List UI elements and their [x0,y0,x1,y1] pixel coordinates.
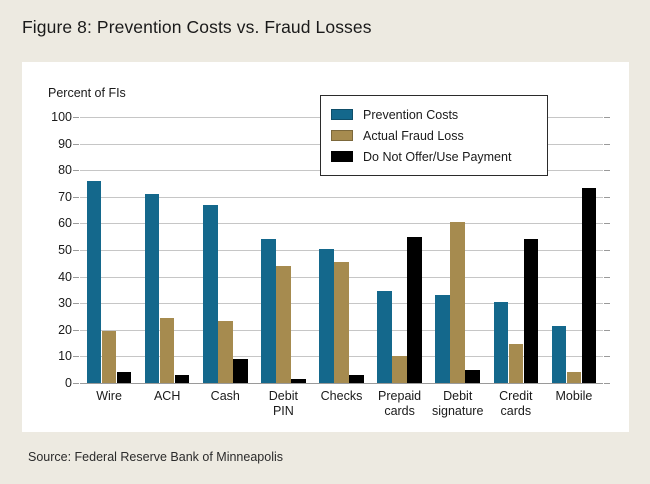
bar[interactable] [145,194,160,383]
bar[interactable] [524,239,539,383]
y-axis-tick [604,303,610,304]
y-axis-tick-label: 0 [38,377,72,390]
y-axis-tick [604,330,610,331]
y-axis-tick [604,383,610,384]
y-axis-tick [73,170,79,171]
legend-item[interactable]: Actual Fraud Loss [331,125,537,146]
x-axis-tick-label: ACH [138,389,196,404]
chart-legend: Prevention CostsActual Fraud LossDo Not … [320,95,548,176]
bar[interactable] [261,239,276,383]
y-axis-tick-label: 60 [38,217,72,230]
bar[interactable] [450,222,465,383]
source-note: Source: Federal Reserve Bank of Minneapo… [28,450,283,464]
legend-swatch-icon [331,130,353,141]
legend-item-label: Actual Fraud Loss [363,129,464,143]
bar-group [87,117,132,383]
y-axis-tick-label: 90 [38,137,72,150]
bar[interactable] [552,326,567,383]
y-axis-tick [604,197,610,198]
y-axis-tick [73,144,79,145]
bar[interactable] [509,344,524,383]
y-axis-tick-label: 20 [38,324,72,337]
y-axis-tick [73,356,79,357]
bar[interactable] [160,318,175,383]
bar-group [145,117,190,383]
bar[interactable] [567,372,582,383]
bar-group [552,117,597,383]
x-axis-tick-label: Mobile [545,389,603,404]
bar[interactable] [87,181,102,383]
bar[interactable] [334,262,349,383]
x-axis-tick-label: Prepaid cards [371,389,429,419]
y-axis-tick-label: 70 [38,191,72,204]
bar[interactable] [102,331,117,383]
legend-item-label: Prevention Costs [363,108,458,122]
figure-title: Figure 8: Prevention Costs vs. Fraud Los… [22,17,372,38]
bar[interactable] [377,291,392,383]
y-axis-tick [604,117,610,118]
y-axis-tick [604,250,610,251]
y-axis-tick [73,117,79,118]
y-axis-tick [73,223,79,224]
x-axis-tick-label: Wire [80,389,138,404]
y-axis-tick-labels: 1009080706050403020100 [30,117,72,383]
legend-swatch-icon [331,109,353,120]
y-axis-tick [73,277,79,278]
x-axis-tick-label: Debit signature [429,389,487,419]
y-axis-tick-label: 30 [38,297,72,310]
y-axis-tick [604,277,610,278]
bar[interactable] [175,375,190,383]
bar[interactable] [276,266,291,383]
legend-swatch-icon [331,151,353,162]
y-axis-tick [604,223,610,224]
bar[interactable] [349,375,364,383]
bar[interactable] [582,188,597,384]
bar[interactable] [435,295,450,383]
legend-item[interactable]: Do Not Offer/Use Payment [331,146,537,167]
bar-group [203,117,248,383]
y-axis-tick [604,356,610,357]
x-axis-tick-label: Cash [196,389,254,404]
y-axis-tick [604,170,610,171]
bar[interactable] [494,302,509,383]
x-axis-tick-label: Credit cards [487,389,545,419]
bar[interactable] [465,370,480,383]
chart-panel: Percent of FIs 1009080706050403020100 Wi… [22,62,629,432]
y-axis-tick [73,197,79,198]
x-axis-tick-labels: WireACHCashDebit PINChecksPrepaid cardsD… [80,389,603,433]
y-axis-tick-label: 100 [38,111,72,124]
y-axis-tick-label: 80 [38,164,72,177]
bar[interactable] [233,359,248,383]
y-axis-tick [73,250,79,251]
y-axis-tick-label: 40 [38,270,72,283]
y-axis-tick [73,303,79,304]
bar[interactable] [291,379,306,383]
y-axis-tick-label: 10 [38,350,72,363]
y-axis-title: Percent of FIs [48,86,126,100]
bar-group [261,117,306,383]
bar[interactable] [218,321,233,384]
bar[interactable] [203,205,218,383]
bar[interactable] [319,249,334,383]
y-axis-tick [73,383,79,384]
bar[interactable] [117,372,132,383]
y-axis-tick [604,144,610,145]
figure-container: Figure 8: Prevention Costs vs. Fraud Los… [0,0,650,484]
x-axis-tick-label: Checks [312,389,370,404]
bar[interactable] [392,356,407,383]
bar[interactable] [407,237,422,383]
legend-item-label: Do Not Offer/Use Payment [363,150,511,164]
legend-item[interactable]: Prevention Costs [331,104,537,125]
x-axis-tick-label: Debit PIN [254,389,312,419]
y-axis-tick [73,330,79,331]
y-axis-tick-label: 50 [38,244,72,257]
